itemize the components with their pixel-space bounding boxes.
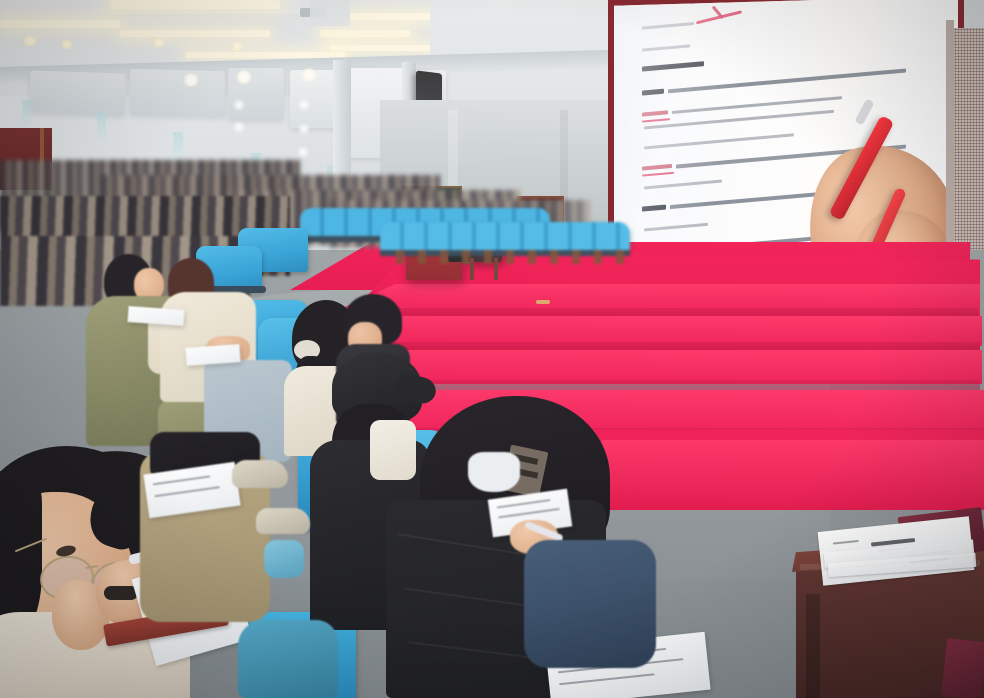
- brochure[interactable]: [941, 638, 984, 698]
- backpack[interactable]: [238, 620, 338, 698]
- paper-text-line: [497, 499, 551, 508]
- sneaker: [256, 508, 310, 534]
- ceiling-downlight: [152, 38, 166, 47]
- mask: [468, 452, 520, 492]
- wall-light-strip: [22, 100, 31, 126]
- stage-carpet-front: [560, 440, 984, 510]
- wall-lamp: [296, 145, 310, 159]
- ceiling-light: [110, 0, 280, 9]
- wall-lamp: [235, 70, 253, 84]
- ceiling-light: [120, 30, 270, 37]
- spacer: [640, 36, 644, 40]
- wall-lamp: [232, 120, 246, 134]
- wall-lamp: [182, 73, 200, 87]
- collar: [370, 420, 416, 480]
- stage-marker: [536, 300, 550, 304]
- lecture-hall-photo: ›: [0, 0, 984, 698]
- wall-lamp: [297, 122, 311, 136]
- table-leg-shadow: [806, 594, 820, 698]
- acoustic-panel: [30, 70, 125, 115]
- ceiling-light: [320, 30, 410, 37]
- acoustic-panel: [130, 69, 225, 118]
- bag-strap: [264, 540, 304, 578]
- wall-lamp: [300, 68, 318, 82]
- paper-text-line: [498, 508, 560, 518]
- wall-lamp: [232, 98, 246, 112]
- ceiling-downlight: [60, 40, 74, 49]
- ceiling-downlight: [22, 36, 38, 46]
- tablet-arm-row: [382, 250, 632, 264]
- beaded-bracelet: [104, 586, 138, 600]
- paper-text-line: [559, 673, 655, 685]
- auditorium-seat-row[interactable]: [380, 222, 630, 252]
- paper-text-line: [154, 486, 220, 497]
- stage-step: [300, 284, 980, 312]
- wall-light-strip: [97, 112, 106, 142]
- ceiling-downlight: [230, 42, 244, 51]
- sneaker: [232, 460, 288, 488]
- handout-text-line: [833, 540, 859, 545]
- ceiling-light: [0, 20, 120, 28]
- paper-text-line: [153, 475, 211, 485]
- jeans: [524, 540, 656, 668]
- handout-paper[interactable]: [185, 344, 240, 366]
- ceiling-panel: [310, 0, 350, 26]
- wall-light-strip: [173, 132, 183, 162]
- wall-lamp: [297, 98, 311, 112]
